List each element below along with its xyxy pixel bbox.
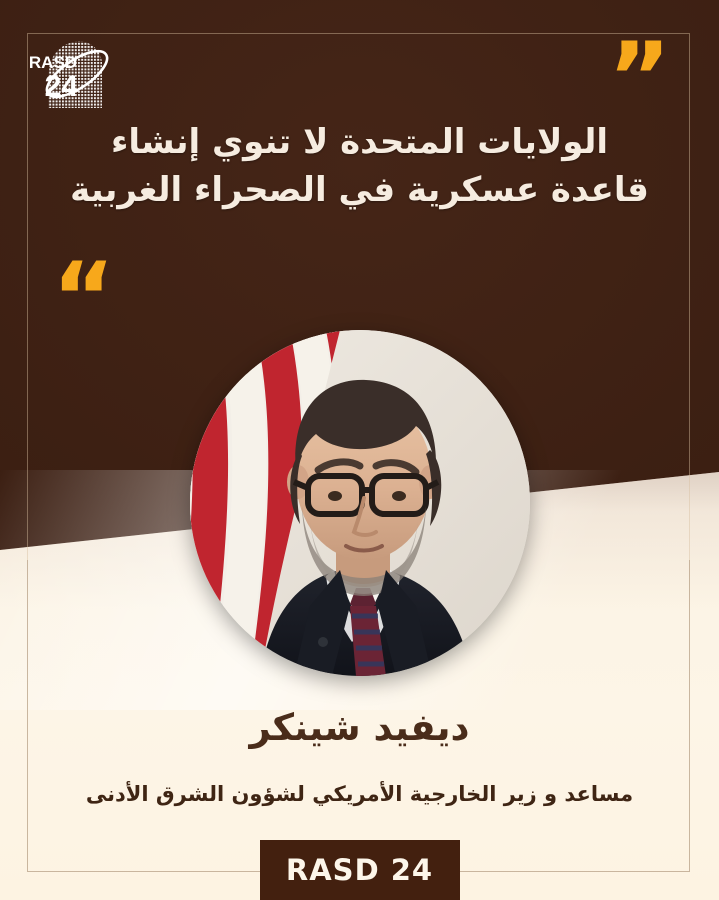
quote-headline: الولايات المتحدة لا تنوي إنشاء قاعدة عسك… <box>58 118 661 215</box>
speaker-title: مساعد و زير الخارجية الأمريكي لشؤون الشر… <box>0 782 719 806</box>
speaker-portrait <box>190 330 530 676</box>
closing-quote-icon: ” <box>608 30 673 126</box>
lapel-microphone <box>318 637 328 647</box>
opening-quote-icon: “ <box>52 250 117 346</box>
rasd24-logo: RASD 24 <box>30 30 150 116</box>
brand-banner: RASD 24 <box>260 840 460 900</box>
quote-card: RASD 24 ” “ الولايات المتحدة لا تنوي إنش… <box>0 0 719 900</box>
speaker-name: ديفيد شينكر <box>0 706 719 749</box>
logo-text-24: 24 <box>45 70 79 103</box>
brand-banner-label: RASD 24 <box>286 853 433 887</box>
